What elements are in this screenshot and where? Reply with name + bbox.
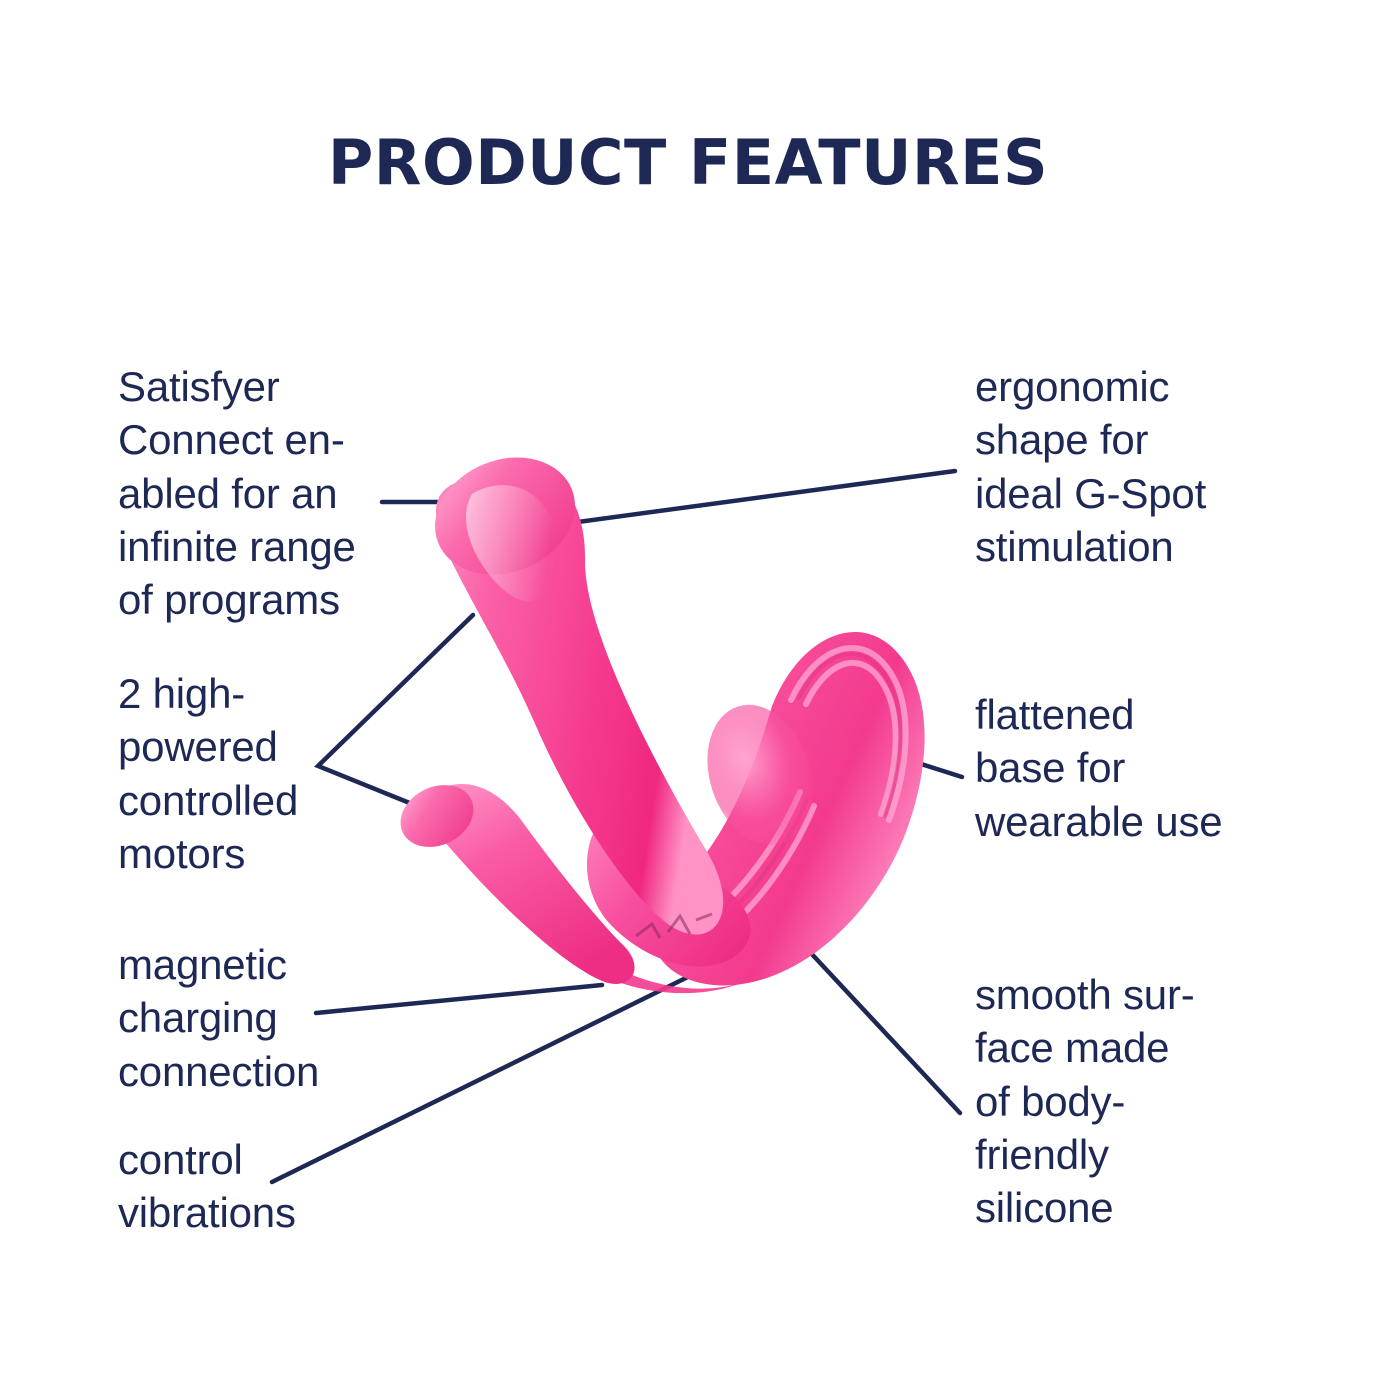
callout-line: face made: [975, 1021, 1285, 1074]
callout-line: stimulation: [975, 520, 1285, 573]
callout-line: wearable use: [975, 795, 1285, 848]
leader-line-smooth: [781, 921, 960, 1113]
callout-smooth-surface: smooth sur- face made of body- friendly …: [975, 968, 1285, 1235]
product-body: [390, 437, 924, 993]
callout-high-powered-motors: 2 high- powered controlled motors: [118, 667, 418, 880]
callout-line: friendly: [975, 1128, 1285, 1181]
callout-line: abled for an: [118, 467, 418, 520]
leader-line-flattened: [852, 742, 962, 777]
product-logo-mark: [636, 914, 712, 938]
product-lower-rim: [572, 940, 744, 993]
product-secondary-arm: [424, 784, 634, 984]
callout-line: ideal G-Spot: [975, 467, 1285, 520]
base-ridges: [690, 648, 906, 948]
product-main-arm: [436, 466, 723, 934]
callout-ergonomic-shape: ergonomic shape for ideal G-Spot stimula…: [975, 360, 1285, 573]
callout-line: Connect en-: [118, 413, 418, 466]
product-flattened-base: [652, 632, 924, 985]
callout-line: magnetic: [118, 938, 418, 991]
callout-line: motors: [118, 827, 418, 880]
product-bridge: [587, 806, 750, 967]
callout-line: silicone: [975, 1181, 1285, 1234]
callout-line: ergonomic: [975, 360, 1285, 413]
callout-line: vibrations: [118, 1186, 418, 1239]
callout-line: control: [118, 1133, 418, 1186]
page-title: PRODUCT FEATURES: [0, 126, 1376, 199]
callout-line: controlled: [118, 774, 418, 827]
callout-line: flattened: [975, 688, 1285, 741]
callout-line: of programs: [118, 573, 418, 626]
callout-satisfyer-connect: Satisfyer Connect en- abled for an infin…: [118, 360, 418, 627]
callout-line: Satisfyer: [118, 360, 418, 413]
callout-control-vibrations: control vibrations: [118, 1133, 418, 1240]
callout-line: 2 high-: [118, 667, 418, 720]
callout-line: of body-: [975, 1075, 1285, 1128]
base-ridges-shadow: [695, 654, 900, 939]
callout-magnetic-charging: magnetic charging connection: [118, 938, 418, 1098]
callout-line: smooth sur-: [975, 968, 1285, 1021]
callout-line: infinite range: [118, 520, 418, 573]
callout-line: base for: [975, 741, 1285, 794]
product-main-arm-tip: [417, 437, 592, 595]
callout-line: connection: [118, 1045, 418, 1098]
product-features-infographic: PRODUCT FEATURES: [0, 0, 1376, 1376]
callout-line: charging: [118, 991, 418, 1044]
callout-flattened-base: flattened base for wearable use: [975, 688, 1285, 848]
base-inner-bump: [690, 691, 830, 859]
leader-line-ergonomic: [541, 471, 955, 527]
product-main-arm-gloss: [466, 485, 557, 601]
callout-line: powered: [118, 720, 418, 773]
callout-line: shape for: [975, 413, 1285, 466]
